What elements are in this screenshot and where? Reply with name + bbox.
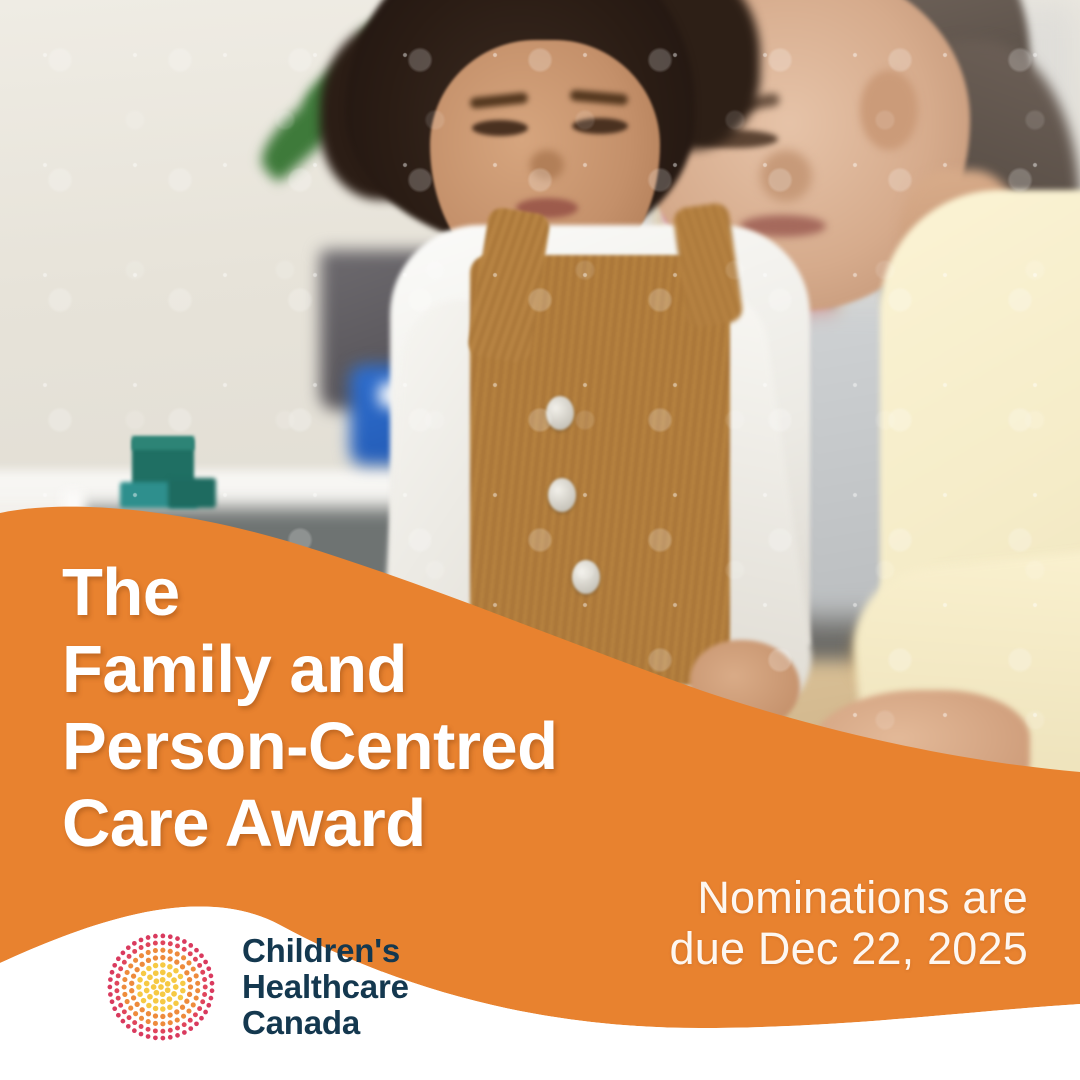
deadline-text: Nominations are due Dec 22, 2025 <box>670 872 1028 974</box>
page-title: The Family and Person-Centred Care Award <box>62 554 558 862</box>
brand-logo-wordmark: Children's Healthcare Canada <box>242 933 409 1041</box>
radial-dot-sunburst-icon <box>102 928 220 1046</box>
brand-logo[interactable]: Children's Healthcare Canada <box>102 928 409 1046</box>
poster-canvas: The Family and Person-Centred Care Award… <box>0 0 1080 1080</box>
